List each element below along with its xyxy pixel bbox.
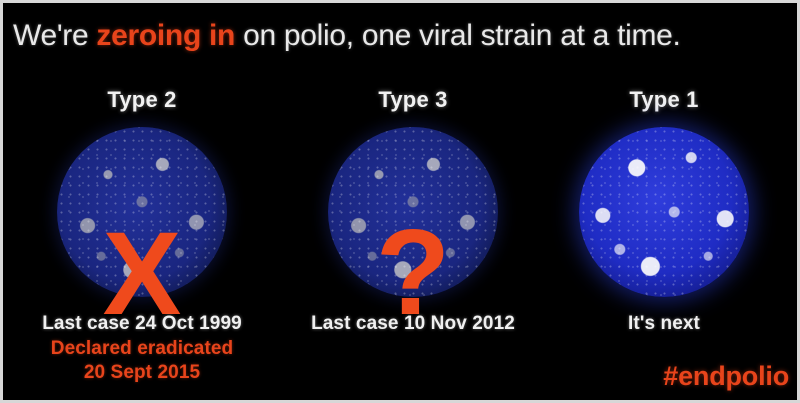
page-title: We're zeroing in on polio, one viral str… [13, 19, 793, 53]
caption-status-date-type-2: 20 Sept 2015 [9, 362, 275, 384]
panel-type-2: Type 2 X Last case 24 Oct 1999 Declared … [9, 81, 275, 401]
virus-speckle-texture [57, 127, 227, 297]
hashtag-endpolio: #endpolio [663, 361, 789, 392]
virus-speckle-texture [328, 127, 498, 297]
virus-particle-type-2: X [57, 127, 227, 297]
virus-particle-type-1 [579, 127, 749, 297]
panel-type-1: Type 1 It's next [531, 81, 797, 401]
caption-last-case-type-3: Last case 10 Nov 2012 [280, 313, 546, 335]
caption-last-case-type-1: It's next [531, 313, 797, 335]
caption-status-type-2: Declared eradicated [9, 338, 275, 360]
panel-type-3: Type 3 ? Last case 10 Nov 2012 [280, 81, 546, 401]
panel-title-type-3: Type 3 [280, 87, 546, 113]
headline-accent: zeroing in [96, 19, 235, 52]
headline-suffix: on polio, one viral strain at a time. [235, 19, 681, 52]
virus-particle-type-3: ? [328, 127, 498, 297]
caption-last-case-type-2: Last case 24 Oct 1999 [9, 313, 275, 335]
panel-title-type-2: Type 2 [9, 87, 275, 113]
panel-title-type-1: Type 1 [531, 87, 797, 113]
virus-speckle-texture [579, 127, 749, 297]
polio-campaign-poster: We're zeroing in on polio, one viral str… [0, 0, 800, 403]
headline-prefix: We're [13, 19, 96, 52]
